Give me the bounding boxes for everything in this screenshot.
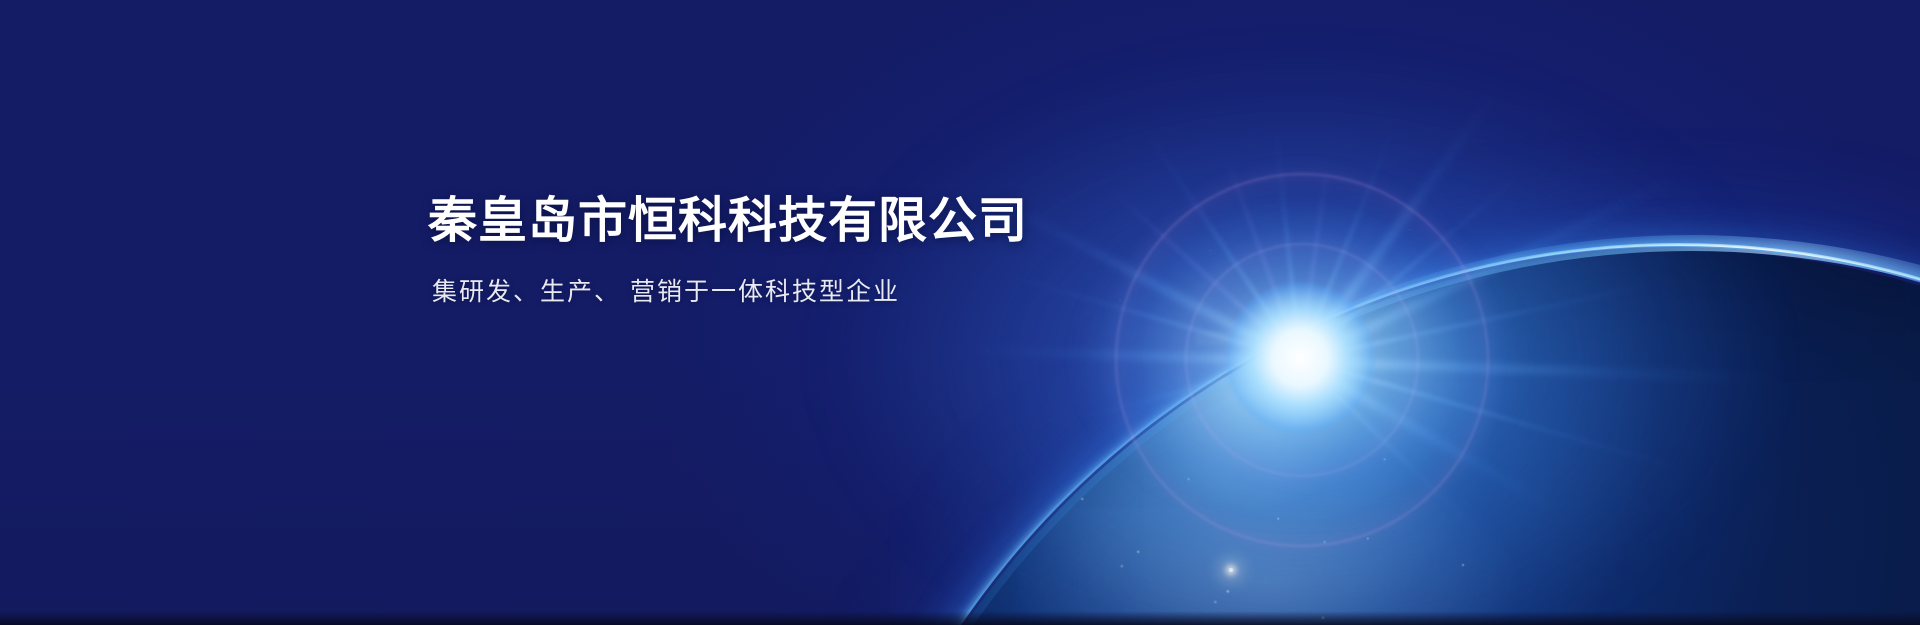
- hero-banner: 秦皇岛市恒科科技有限公司 集研发、生产、 营销于一体科技型企业: [0, 0, 1920, 625]
- company-name-heading: 秦皇岛市恒科科技有限公司: [428, 192, 1028, 250]
- banner-copy: 秦皇岛市恒科科技有限公司 集研发、生产、 营销于一体科技型企业: [428, 192, 1028, 308]
- company-tagline: 集研发、生产、 营销于一体科技型企业: [432, 276, 1028, 308]
- starfield: [0, 0, 1920, 625]
- bottom-edge-shade: [0, 611, 1920, 625]
